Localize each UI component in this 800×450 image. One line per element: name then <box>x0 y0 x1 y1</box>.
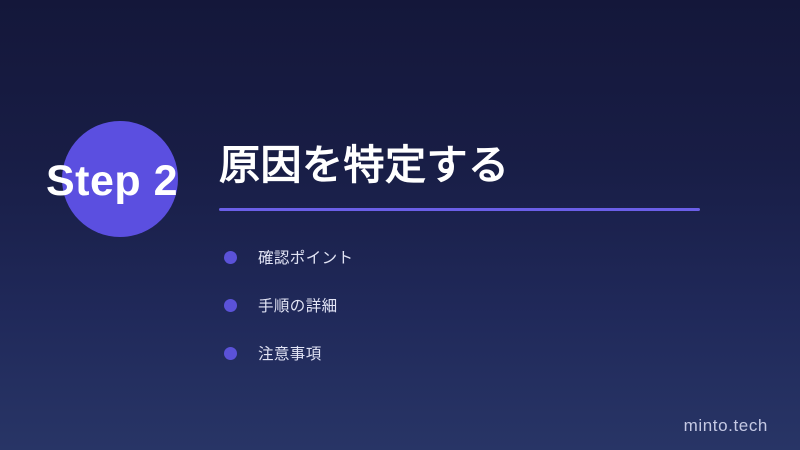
slide-title: 原因を特定する <box>219 142 739 189</box>
list-item: 手順の詳細 <box>219 281 739 329</box>
slide-content: 原因を特定する 確認ポイント 手順の詳細 注意事項 <box>219 142 739 377</box>
bullet-dot-icon <box>224 251 237 264</box>
slide-canvas: Step 2 原因を特定する 確認ポイント 手順の詳細 注意事項 minto.t… <box>0 0 800 450</box>
brand-watermark: minto.tech <box>684 416 768 436</box>
bullet-item-label: 手順の詳細 <box>258 294 338 316</box>
bullet-dot-icon <box>224 347 237 360</box>
bullet-item-label: 確認ポイント <box>258 246 353 268</box>
bullet-dot-icon <box>224 299 237 312</box>
step-label: Step 2 <box>46 155 178 207</box>
bullet-item-label: 注意事項 <box>258 342 322 364</box>
list-item: 確認ポイント <box>219 233 739 281</box>
list-item: 注意事項 <box>219 329 739 377</box>
bullet-list: 確認ポイント 手順の詳細 注意事項 <box>219 233 739 377</box>
title-divider <box>219 208 700 211</box>
